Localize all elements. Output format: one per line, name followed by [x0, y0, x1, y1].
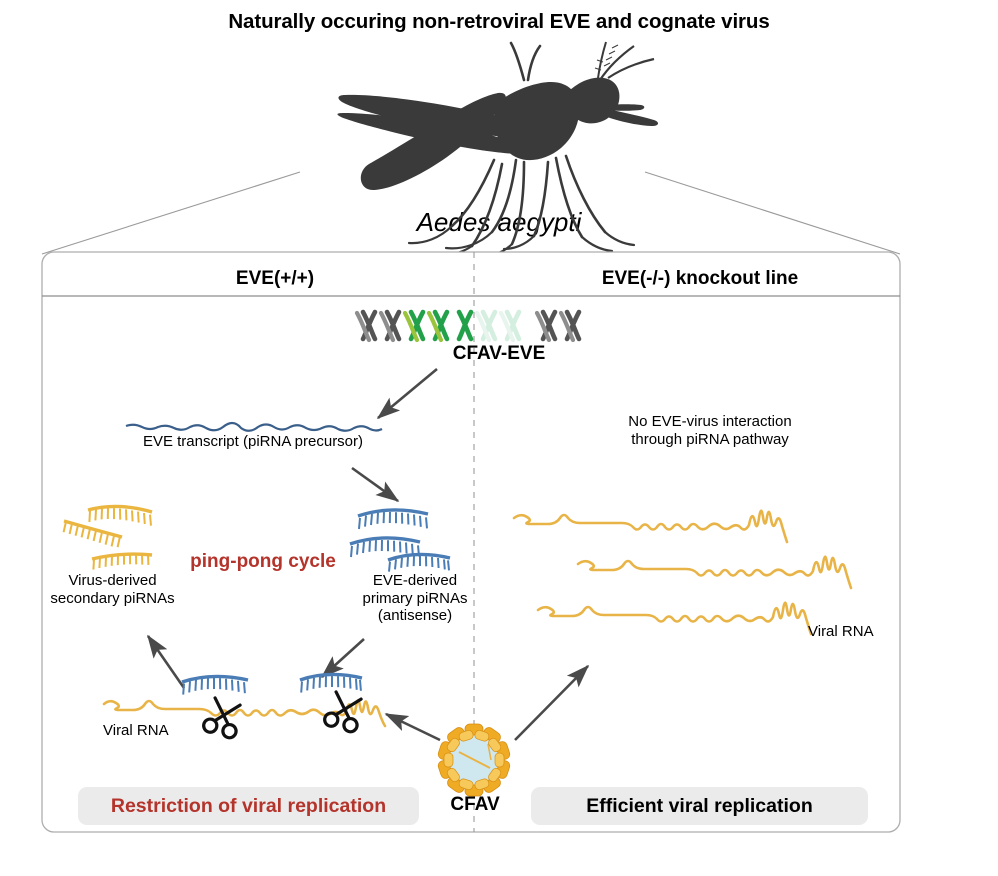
- viral-rna-label-right: Viral RNA: [808, 623, 874, 641]
- panel-header-right: EVE(-/-) knockout line: [580, 268, 820, 290]
- viral-rna-label-left: Viral RNA: [103, 722, 169, 740]
- outcome-box-left: Restriction of viral replication: [78, 787, 419, 825]
- primary-pirna-label: EVE-derived primary piRNAs (antisense): [340, 572, 490, 625]
- mosquito-icon: [337, 42, 658, 257]
- secondary-pirna-label: Virus-derived secondary piRNAs: [35, 572, 190, 607]
- outcome-box-right: Efficient viral replication: [531, 787, 868, 825]
- funnel-lines: [42, 172, 900, 254]
- eve-transcript-label: EVE transcript (piRNA precursor): [108, 433, 398, 451]
- virion-icon: [437, 724, 511, 796]
- panel-header-left: EVE(+/+): [160, 268, 390, 290]
- ping-pong-cycle-label: ping-pong cycle: [163, 551, 363, 573]
- no-interaction-label: No EVE-virus interaction through piRNA p…: [575, 413, 845, 448]
- virus-label: CFAV: [420, 794, 530, 816]
- figure-root: Naturally occuring non-retroviral EVE an…: [0, 0, 998, 876]
- genome-label: CFAV-EVE: [0, 343, 998, 365]
